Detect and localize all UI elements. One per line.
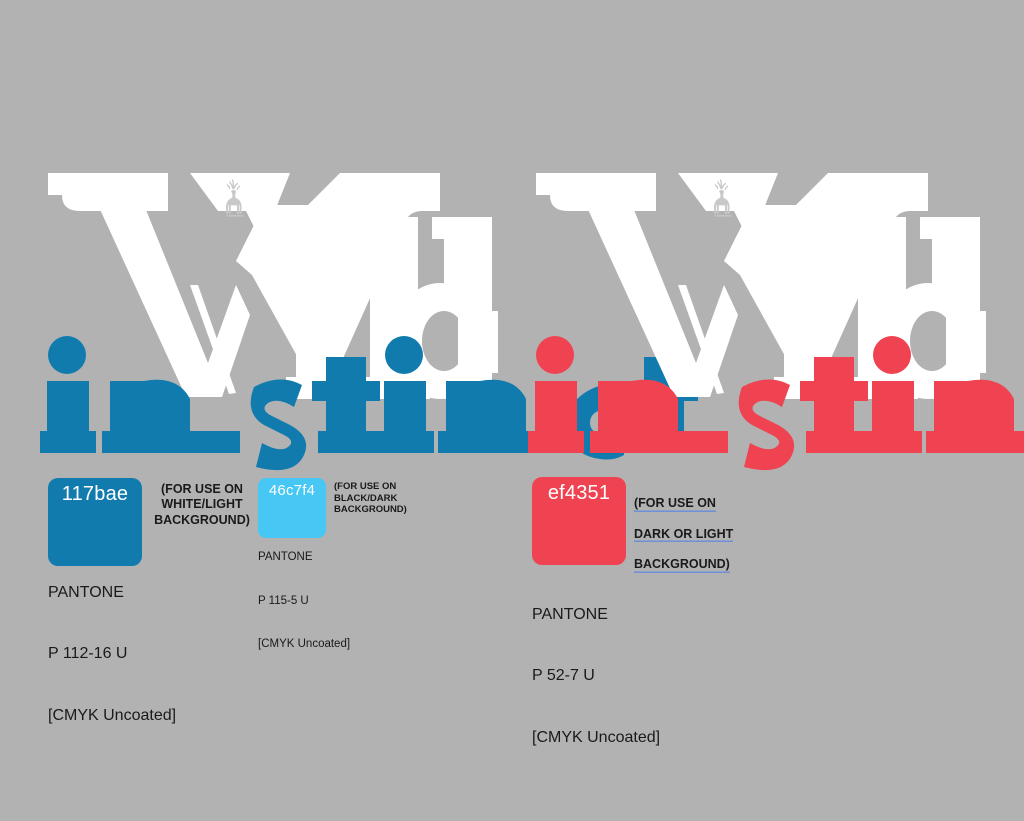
usage-note-secondary: (FOR USE ON BLACK/DARK BACKGROUND) bbox=[334, 478, 430, 516]
usage-note-accent[interactable]: (FOR USE ON DARK OR LIGHT BACKGROUND) bbox=[634, 477, 756, 588]
pantone-spec-secondary: PANTONE P 115-5 U [CMYK Uncoated] bbox=[258, 547, 430, 656]
logo-blue-artwork bbox=[40, 165, 510, 445]
swatch-row-accent: ef4351 (FOR USE ON DARK OR LIGHT BACKGRO… bbox=[532, 477, 756, 588]
swatch-hex-label: 46c7f4 bbox=[258, 482, 326, 499]
wordmark-wild-red bbox=[536, 173, 986, 399]
logo-lockup-blue bbox=[40, 165, 510, 445]
swatch-row-secondary: 46c7f4 (FOR USE ON BLACK/DARK BACKGROUND… bbox=[258, 478, 430, 538]
color-swatch-ef4351[interactable]: ef4351 bbox=[532, 477, 626, 565]
swatch-hex-label: ef4351 bbox=[532, 482, 626, 505]
color-swatch-46c7f4[interactable]: 46c7f4 bbox=[258, 478, 326, 538]
usage-note-line-1: (FOR USE ON bbox=[634, 496, 716, 511]
swatch-group-primary: 117bae (FOR USE ON WHITE/LIGHT BACKGROUN… bbox=[48, 478, 254, 732]
pantone-spec-primary: PANTONE P 112-16 U [CMYK Uncoated] bbox=[48, 578, 254, 732]
usage-note-line-3: BACKGROUND) bbox=[634, 557, 730, 572]
pantone-spec-accent: PANTONE P 52-7 U [CMYK Uncoated] bbox=[532, 600, 756, 754]
swatch-group-secondary: 46c7f4 (FOR USE ON BLACK/DARK BACKGROUND… bbox=[258, 478, 430, 656]
swatch-row-primary: 117bae (FOR USE ON WHITE/LIGHT BACKGROUN… bbox=[48, 478, 254, 566]
swatch-hex-label: 117bae bbox=[48, 483, 142, 506]
usage-note-line-2: DARK OR LIGHT bbox=[634, 527, 733, 542]
logo-lockup-red bbox=[528, 165, 998, 445]
style-guide-canvas: 117bae (FOR USE ON WHITE/LIGHT BACKGROUN… bbox=[0, 0, 1024, 821]
logo-red-artwork bbox=[528, 165, 998, 445]
usage-note-primary: (FOR USE ON WHITE/LIGHT BACKGROUND) bbox=[150, 478, 254, 528]
wordmark-wild-blue bbox=[48, 173, 498, 399]
color-swatch-117bae[interactable]: 117bae bbox=[48, 478, 142, 566]
swatch-group-accent: ef4351 (FOR USE ON DARK OR LIGHT BACKGRO… bbox=[532, 477, 756, 753]
